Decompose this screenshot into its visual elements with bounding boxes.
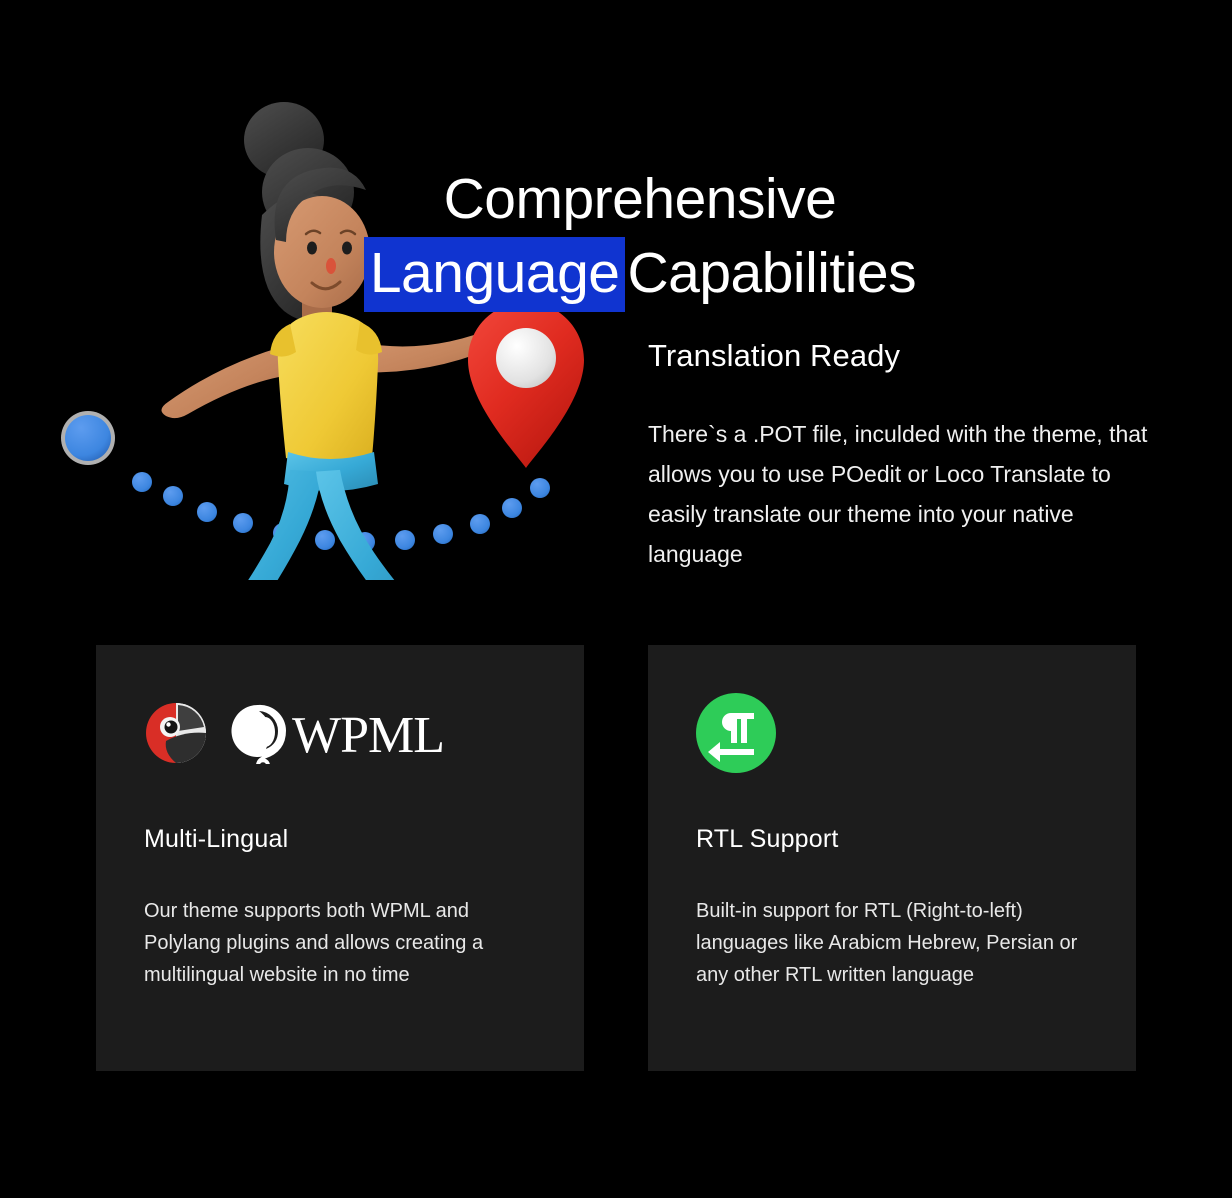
translation-ready-body: There`s a .POT file, inculded with the t… (648, 414, 1148, 574)
feature-card-rtl-support[interactable]: RTL Support Built-in support for RTL (Ri… (648, 645, 1136, 1071)
feature-card-body: Our theme supports both WPML and Polylan… (144, 895, 536, 991)
feature-card-multi-lingual[interactable]: WPML Multi-Lingual Our theme supports bo… (96, 645, 584, 1071)
wpml-wordmark: WPML (224, 702, 464, 764)
page-title-line-2-rest: Capabilities (627, 241, 916, 305)
feature-card-title: Multi-Lingual (144, 823, 536, 855)
rtl-direction-icon (696, 693, 776, 773)
feature-card-title: RTL Support (696, 823, 1088, 855)
map-pin-marker (468, 302, 584, 468)
feature-card-body: Built-in support for RTL (Right-to-left)… (696, 895, 1088, 991)
hero-illustration (40, 80, 640, 580)
wpml-parrot-icon (144, 701, 208, 765)
wpml-logo-lockup: WPML (144, 693, 536, 773)
feature-cards: WPML Multi-Lingual Our theme supports bo… (96, 645, 1136, 1071)
translation-ready-block: Translation Ready There`s a .POT file, i… (648, 336, 1148, 574)
page-root: Comprehensive LanguageCapabilities Trans… (0, 0, 1232, 1198)
wpml-wordmark-text: WPML (292, 707, 444, 764)
translation-ready-heading: Translation Ready (648, 336, 1148, 376)
rtl-icon-wrapper (696, 693, 1088, 773)
